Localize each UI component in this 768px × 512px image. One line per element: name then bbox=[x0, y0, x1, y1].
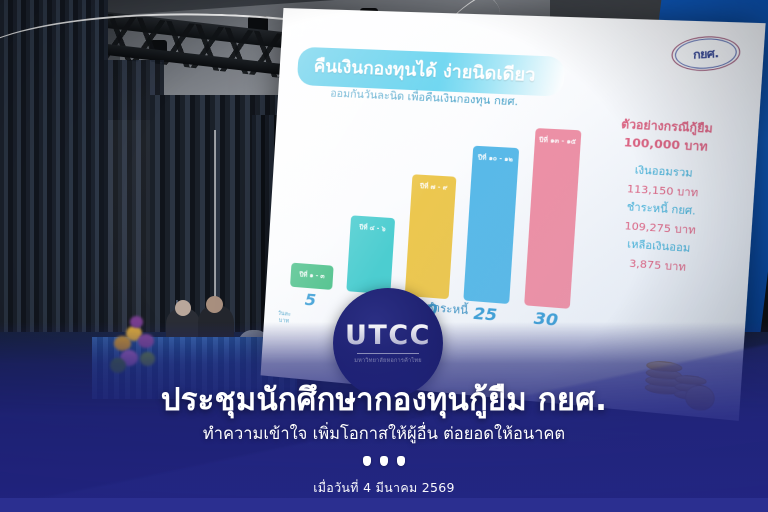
chart-bar: ปีที่ ๔ - ๖ bbox=[347, 216, 395, 295]
caption-subtitle: ทำความเข้าใจ เพิ่มโอกาสให้ผู้อื่น ต่อยอด… bbox=[0, 423, 768, 445]
separator-dot bbox=[397, 456, 405, 466]
news-banner-photo: กยศ. คืนเงินกองทุนได้ ง่ายนิดเดียว ออมกั… bbox=[0, 0, 768, 512]
chart-bar: ปีที่ ๑๐ - ๑๒ bbox=[464, 146, 519, 304]
chart-bars: ปีที่ ๑ - ๓ ปีที่ ๔ - ๖ ปีที่ ๗ - ๙ ปีที… bbox=[290, 116, 581, 309]
caption-block: ประชุมนักศึกษากองทุนกู้ยืม กยศ. ทำความเข… bbox=[0, 383, 768, 498]
chart-bar: ปีที่ ๗ - ๙ bbox=[405, 174, 457, 299]
example-case-panel: ตัวอย่างกรณีกู้ยืม 100,000 บาท เงินออมรว… bbox=[586, 115, 741, 280]
separator-dot bbox=[363, 456, 371, 466]
chart-bar-label: ปีที่ ๗ - ๙ bbox=[420, 181, 448, 193]
chart-bar: ปีที่ ๑๓ - ๑๕ bbox=[524, 128, 582, 309]
bottom-accent-bar bbox=[0, 498, 768, 512]
chart-bar-label: ปีที่ ๑ - ๓ bbox=[299, 269, 325, 281]
caption-title: ประชุมนักศึกษากองทุนกู้ยืม กยศ. bbox=[0, 383, 768, 419]
person-head bbox=[175, 300, 191, 316]
chart-bar: ปีที่ ๑ - ๓ bbox=[290, 263, 334, 290]
person-head bbox=[206, 296, 223, 313]
chart-bar-label: ปีที่ ๑๐ - ๑๒ bbox=[478, 153, 514, 165]
chart-bar-label: ปีที่ ๑๓ - ๑๕ bbox=[539, 135, 577, 147]
caption-date: เมื่อวันที่ 4 มีนาคม 2569 bbox=[0, 478, 768, 498]
logo-text: กยศ. bbox=[671, 42, 741, 66]
separator-dot bbox=[380, 456, 388, 466]
dot-separator bbox=[0, 456, 768, 466]
kyst-logo-icon: กยศ. bbox=[670, 35, 741, 72]
chart-bar-label: ปีที่ ๔ - ๖ bbox=[359, 222, 386, 234]
